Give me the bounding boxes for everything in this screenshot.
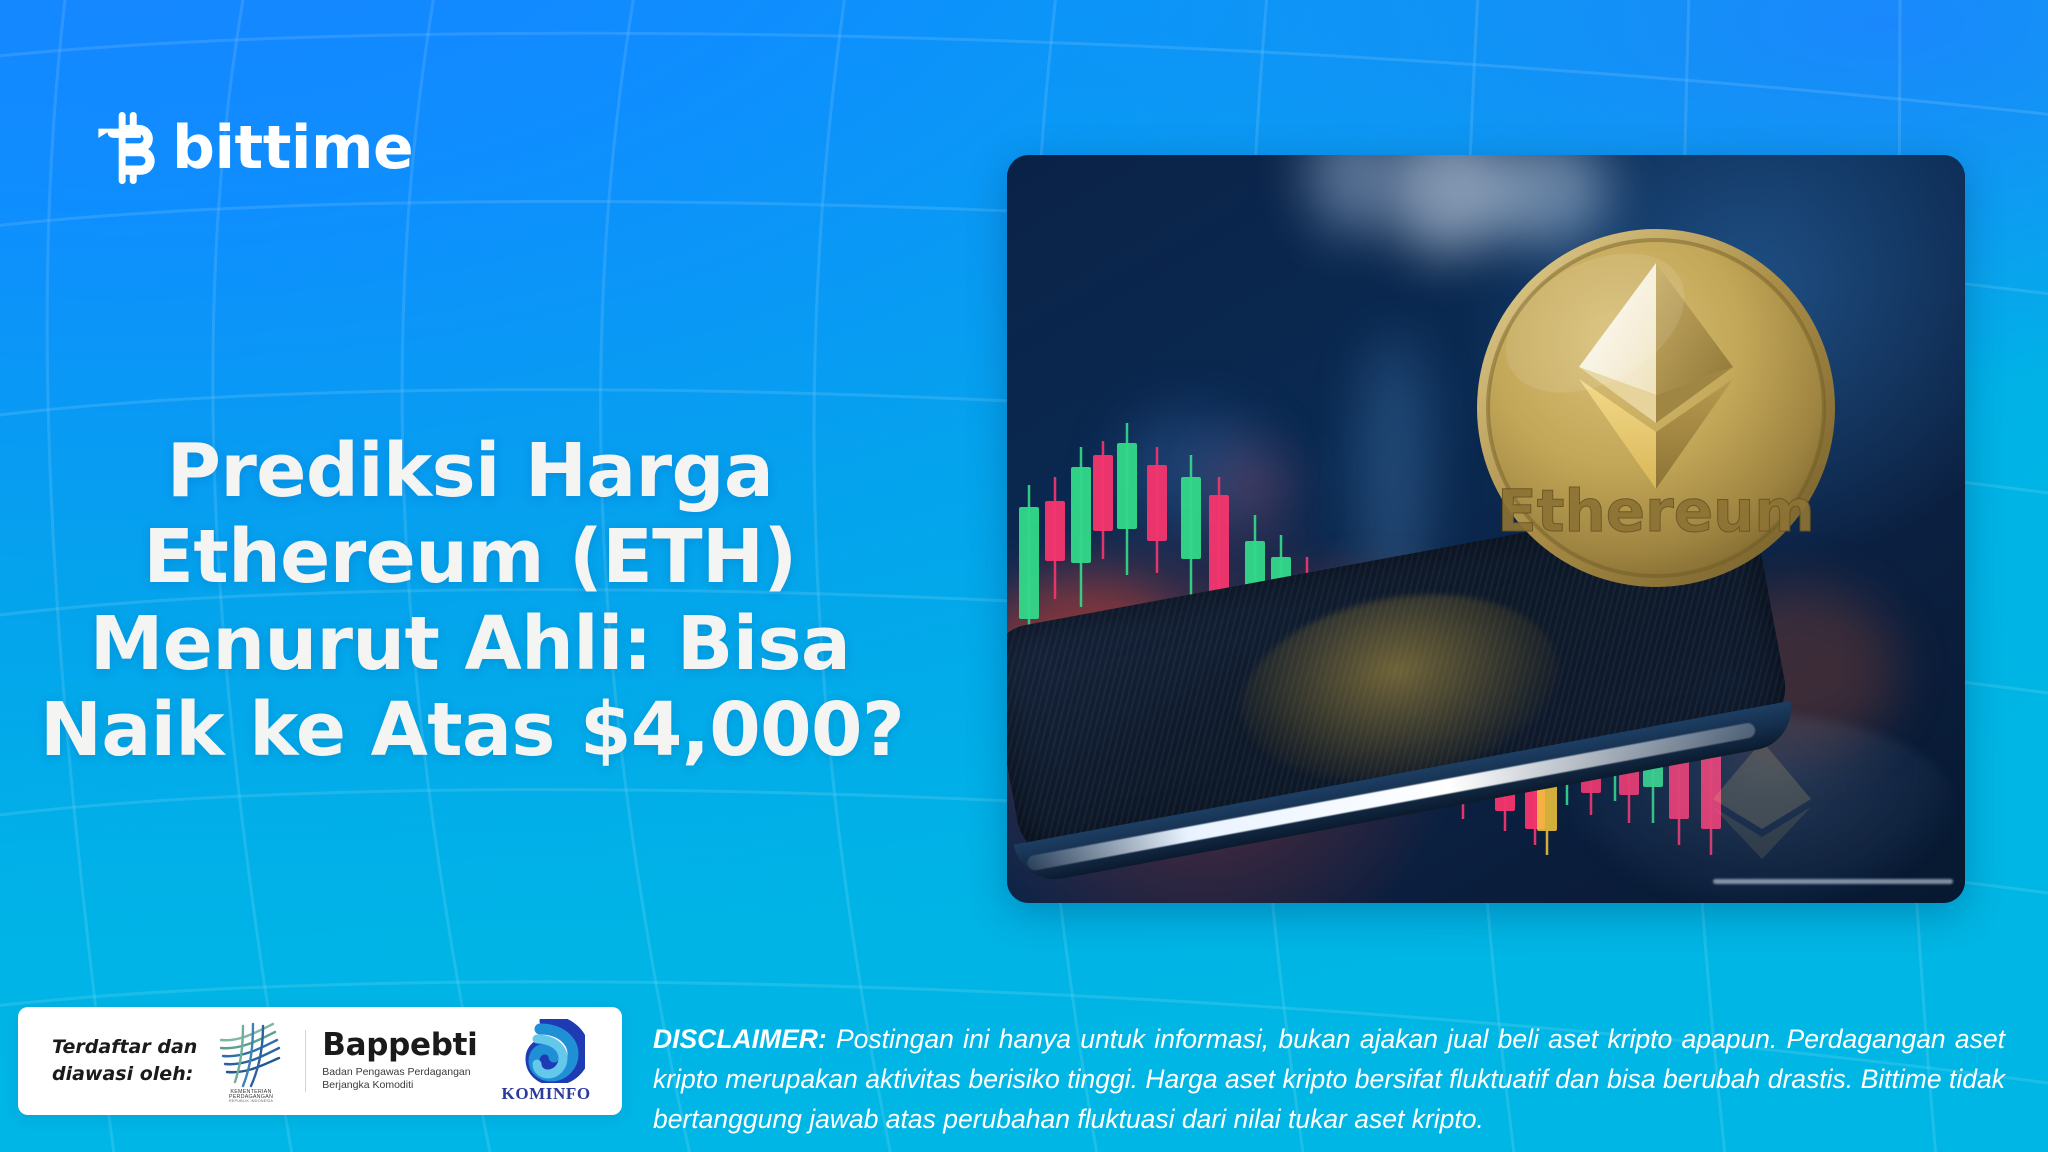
kominfo-badge: KOMINFO	[502, 1019, 591, 1104]
headline-line-3: Menurut Ahli: Bisa	[40, 601, 900, 688]
bappebti-badge: Bappebti Badan Pengawas Perdagangan Berj…	[322, 1030, 477, 1093]
kementerian-perdagangan-icon: KEMENTERIAN PERDAGANGAN REPUBLIK INDONES…	[213, 1020, 289, 1102]
brand-name: bittime	[172, 118, 413, 178]
device-reflection-edge	[1713, 879, 1953, 884]
bittime-bitcoin-b-icon	[96, 112, 158, 184]
disclaimer-text: DISCLAIMER: Postingan ini hanya untuk in…	[653, 1019, 2005, 1140]
poster-canvas: bittime Prediksi Harga Ethereum (ETH) Me…	[0, 0, 2048, 1152]
coin-label: Ethereum	[1497, 477, 1815, 545]
disclaimer-label: DISCLAIMER:	[653, 1024, 827, 1054]
kominfo-wave-icon	[507, 1019, 585, 1083]
svg-text:REPUBLIK INDONESIA: REPUBLIK INDONESIA	[229, 1099, 274, 1102]
hero-image-card: Ethereum	[1007, 155, 1965, 903]
page-title: Prediksi Harga Ethereum (ETH) Menurut Ah…	[40, 428, 900, 774]
badge-divider	[305, 1030, 306, 1092]
headline-line-1: Prediksi Harga	[40, 428, 900, 515]
bappebti-subtitle: Badan Pengawas Perdagangan Berjangka Kom…	[322, 1066, 477, 1093]
disclaimer-body: Postingan ini hanya untuk informasi, buk…	[653, 1024, 2005, 1135]
badge-lead-text: Terdaftar dan diawasi oleh:	[52, 1034, 197, 1088]
headline-line-2: Ethereum (ETH)	[40, 514, 900, 601]
headline-line-4: Naik ke Atas $4,000?	[40, 687, 900, 774]
ethereum-coin: Ethereum	[1475, 227, 1837, 589]
regulator-badge-bar: Terdaftar dan diawasi oleh: KEMENTERIAN …	[18, 1007, 622, 1115]
bappebti-name: Bappebti	[322, 1030, 477, 1061]
kominfo-name: KOMINFO	[502, 1084, 591, 1104]
bittime-logo[interactable]: bittime	[96, 112, 413, 184]
